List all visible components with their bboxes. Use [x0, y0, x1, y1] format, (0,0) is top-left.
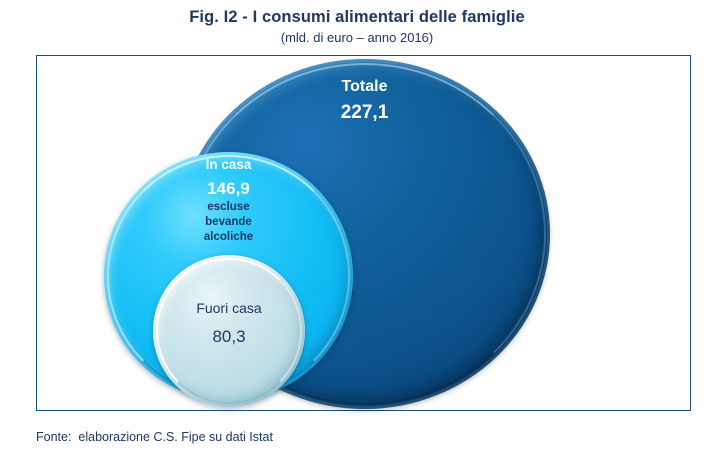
source-note: Fonte: elaborazione C.S. Fipe su dati Is… [36, 430, 273, 444]
chart-subtitle: (mld. di euro – anno 2016) [0, 29, 714, 47]
circle-fuori-casa[interactable] [153, 255, 305, 407]
circle-fuori-casa-bevel [156, 258, 302, 404]
chart-header: Fig. I2 - I consumi alimentari delle fam… [0, 7, 714, 47]
chart-plot-area: Totale 227,1 In casa 146,9 escluse bevan… [36, 55, 691, 411]
page-title: Fig. I2 - I consumi alimentari delle fam… [0, 7, 714, 27]
